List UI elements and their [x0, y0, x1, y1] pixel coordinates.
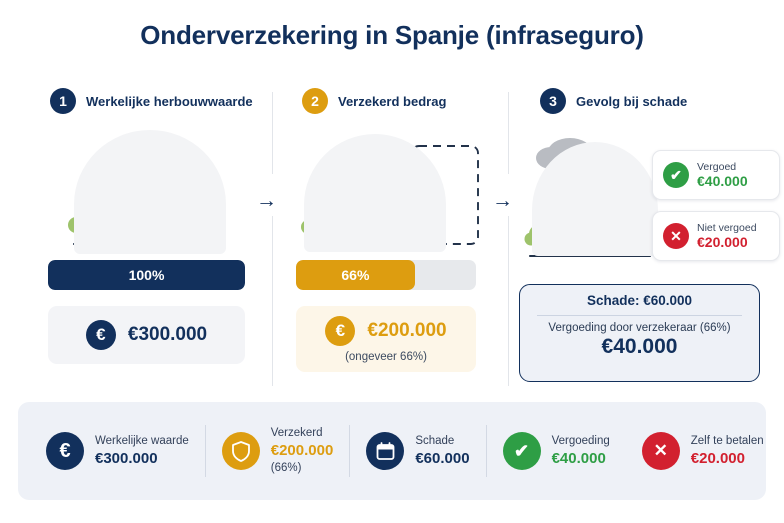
check-mark-icon: ✔	[663, 162, 689, 188]
check-mark-icon-footer: ✔	[503, 432, 541, 470]
cross-glyph: ✕	[654, 441, 668, 461]
value-amount-insured: €200.000	[367, 320, 446, 342]
step-badge-3: 3	[540, 88, 566, 114]
footer-label-own-cost: Zelf te betalen	[691, 434, 764, 449]
shield-icon	[222, 432, 260, 470]
check-glyph: ✔	[514, 441, 529, 462]
footer-amount-own-cost: €20.000	[691, 449, 764, 469]
footer-item-own-cost: ✕ Zelf te betalen €20.000	[626, 432, 784, 470]
value-card-actual-value: € €300.000	[48, 306, 245, 364]
result-chip-covered[interactable]: ✔ Vergoed €40.000	[652, 150, 780, 200]
illustration-intact-house	[62, 126, 237, 258]
infographic-canvas: Onderverzekering in Spanje (infraseguro)…	[0, 0, 784, 523]
footer-label-payout: Vergoeding	[552, 434, 610, 449]
illustration-underinsured-house	[296, 130, 486, 258]
euro-coin-icon-gold: €	[325, 316, 355, 346]
column-separator-1	[272, 92, 273, 174]
footer-text-payout: Vergoeding €40.000	[552, 434, 610, 468]
cross-mark-icon-footer: ✕	[642, 432, 680, 470]
value-row-2: € €200.000	[325, 316, 446, 346]
summary-payout-label: Vergoeding door verzekeraar (66%)	[548, 322, 730, 334]
chip-text-not-covered: Niet vergoed €20.000	[697, 222, 757, 250]
footer-label-actual-value: Werkelijke waarde	[95, 434, 189, 449]
chip-label-covered: Vergoed	[697, 161, 748, 173]
illustration-damaged-house	[518, 128, 668, 268]
chip-amount-covered: €40.000	[697, 173, 748, 189]
column-separator-1b	[272, 216, 273, 386]
footer-item-damage: Schade €60.000	[350, 432, 485, 470]
footer-label-insured: Verzekerd	[271, 426, 334, 441]
step-header-1: 1 Werkelijke herbouwwaarde	[50, 88, 253, 114]
footer-amount-damage: €60.000	[415, 449, 469, 469]
chip-amount-not-covered: €20.000	[697, 234, 757, 250]
step-label-2: Verzekerd bedrag	[338, 94, 446, 109]
summary-divider	[537, 315, 743, 316]
summary-footer-bar: € Werkelijke waarde €300.000 Verzekerd €…	[18, 402, 766, 500]
footer-text-actual-value: Werkelijke waarde €300.000	[95, 434, 189, 468]
footer-item-insured: Verzekerd €200.000 (66%)	[206, 426, 350, 475]
result-chip-not-covered[interactable]: ✕ Niet vergoed €20.000	[652, 211, 780, 261]
summary-payout-amount: €40.000	[602, 335, 678, 359]
euro-coin-icon-footer: €	[46, 432, 84, 470]
footer-amount-insured: €200.000	[271, 441, 334, 461]
cross-mark-icon: ✕	[663, 223, 689, 249]
value-card-insured-value: € €200.000 (ongeveer 66%)	[296, 306, 476, 372]
footer-item-actual-value: € Werkelijke waarde €300.000	[18, 432, 205, 470]
flow-arrow-1: →	[256, 190, 277, 211]
column-separator-2b	[508, 216, 509, 386]
footer-label-damage: Schade	[415, 434, 469, 449]
calendar-icon	[366, 432, 404, 470]
column-separator-2	[508, 92, 509, 174]
chip-label-not-covered: Niet vergoed	[697, 222, 757, 234]
step-label-3: Gevolg bij schade	[576, 94, 687, 109]
value-row-1: € €300.000	[86, 320, 207, 350]
damage-summary-box: Schade: €60.000 Vergoeding door verzeker…	[519, 284, 760, 382]
value-subtext-insured: (ongeveer 66%)	[345, 351, 427, 363]
footer-sub-insured: (66%)	[271, 461, 334, 476]
euro-glyph: €	[59, 440, 70, 463]
step-label-1: Werkelijke herbouwwaarde	[86, 94, 253, 109]
step-header-2: 2 Verzekerd bedrag	[302, 88, 446, 114]
footer-amount-actual-value: €300.000	[95, 449, 189, 469]
progress-bar-actual-value: 100%	[48, 260, 245, 290]
euro-coin-icon: €	[86, 320, 116, 350]
footer-item-payout: ✔ Vergoeding €40.000	[487, 432, 626, 470]
footer-text-damage: Schade €60.000	[415, 434, 469, 468]
value-amount-actual: €300.000	[128, 324, 207, 346]
chip-text-covered: Vergoed €40.000	[697, 161, 748, 189]
progress-bar-fill-2: 66%	[296, 260, 415, 290]
step-header-3: 3 Gevolg bij schade	[540, 88, 687, 114]
calendar-glyph	[375, 441, 396, 462]
footer-text-insured: Verzekerd €200.000 (66%)	[271, 426, 334, 475]
step-badge-2: 2	[302, 88, 328, 114]
page-title: Onderverzekering in Spanje (infraseguro)	[0, 20, 784, 51]
progress-bar-insured-value: 66%	[296, 260, 476, 290]
progress-bar-fill-1: 100%	[48, 260, 245, 290]
flow-arrow-2: →	[492, 190, 513, 211]
footer-text-own-cost: Zelf te betalen €20.000	[691, 434, 764, 468]
summary-damage-total: Schade: €60.000	[587, 293, 692, 308]
footer-amount-payout: €40.000	[552, 449, 610, 469]
step-badge-1: 1	[50, 88, 76, 114]
shield-glyph	[231, 440, 251, 462]
